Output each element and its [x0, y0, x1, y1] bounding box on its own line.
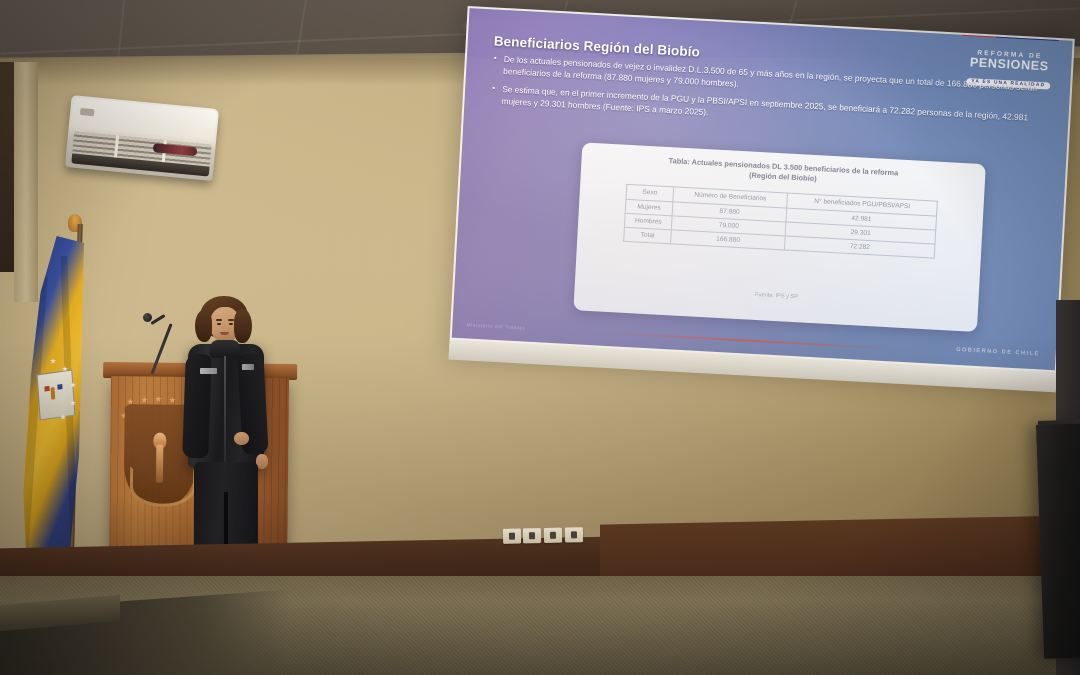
hair-left [195, 310, 212, 342]
jacket-badge-left [200, 368, 217, 374]
outlet [523, 528, 541, 543]
hand-right [234, 432, 249, 445]
jacket-badge-right [242, 364, 254, 370]
outlet [544, 528, 562, 543]
microphone-icon [143, 313, 152, 322]
hair-right [234, 309, 252, 343]
outlet [565, 527, 583, 542]
wall-outlets [503, 527, 585, 545]
loudspeaker [1036, 423, 1080, 659]
outlet [503, 528, 521, 543]
jacket-zipper [224, 356, 226, 464]
screenshot-root: REFORMA DE PENSIONES YA ES UNA REALIDAD … [0, 0, 1080, 675]
